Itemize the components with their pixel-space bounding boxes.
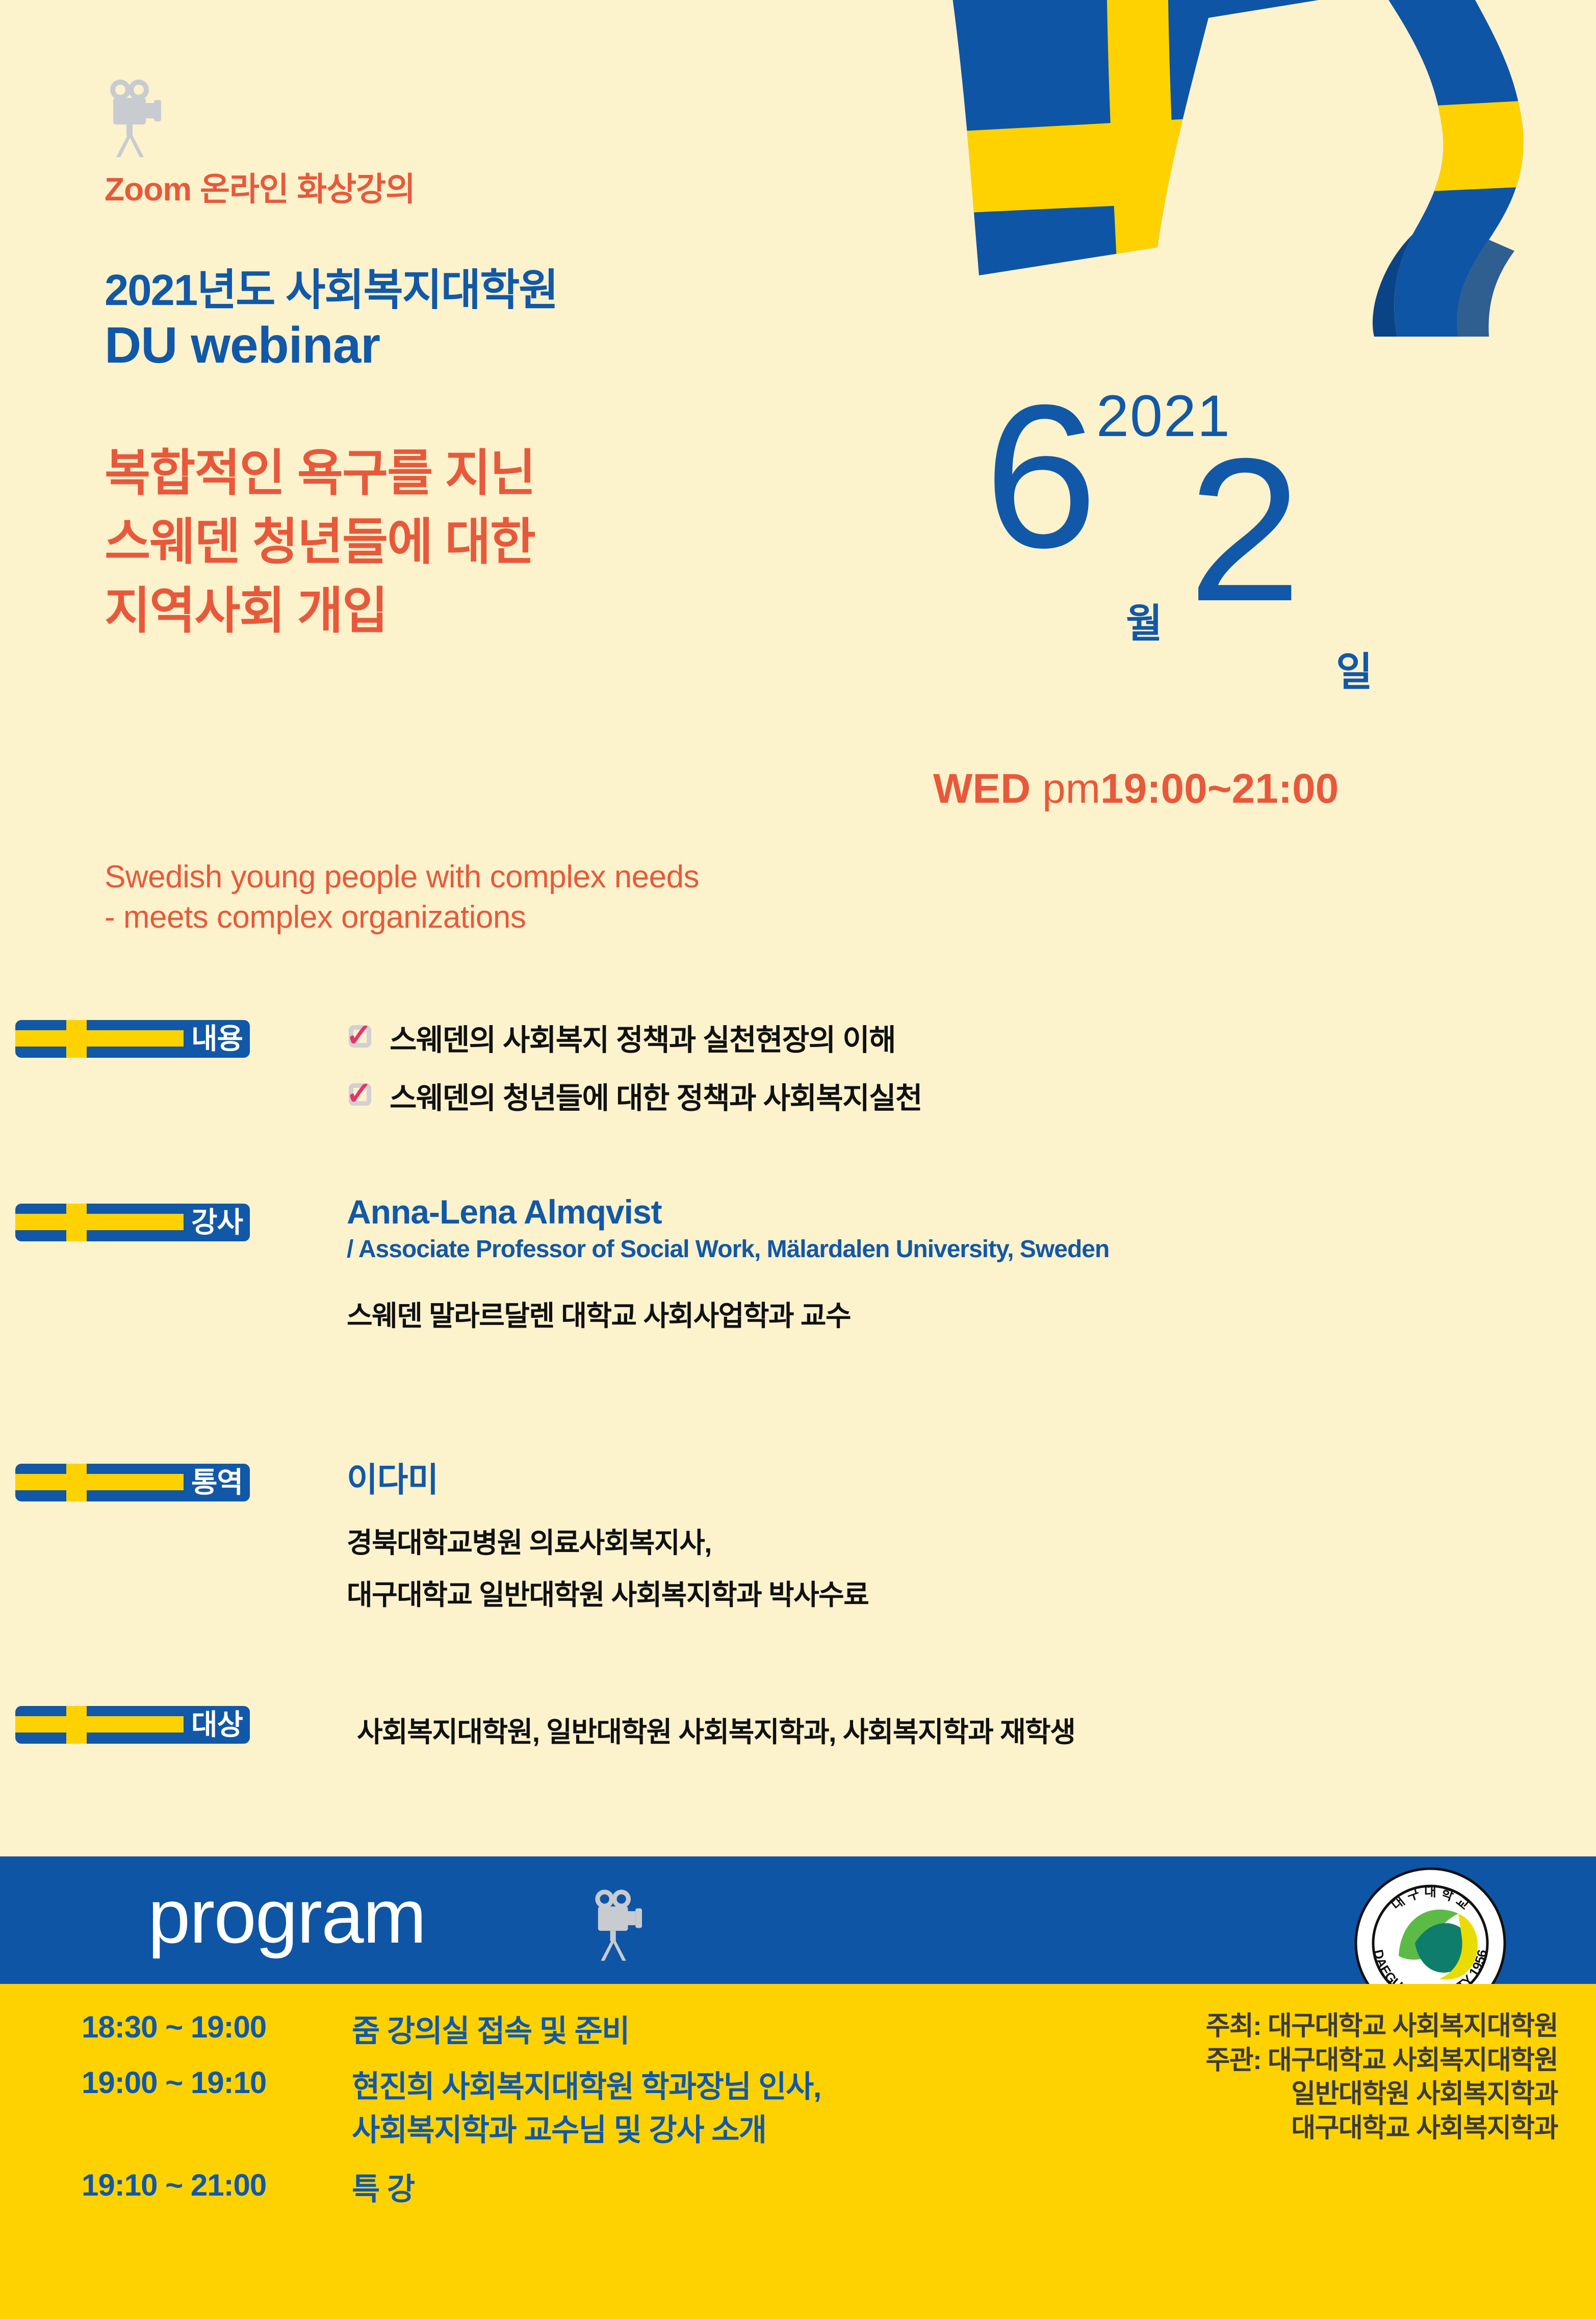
interpreter-detail-1: 경북대학교병원 의료사회복지사, xyxy=(347,1520,868,1561)
flag-bar xyxy=(66,1464,87,1501)
flag-band xyxy=(15,1030,184,1047)
badge-label: 내용 xyxy=(191,1025,243,1053)
poster-root: Zoom 온라인 화상강의 2021년도 사회복지대학원 DU webinar … xyxy=(0,0,1596,2319)
flag-band xyxy=(15,1716,184,1732)
badge-speaker: 강사 xyxy=(15,1204,250,1241)
schedule-time: 19:00 ~ 19:10 xyxy=(82,2065,352,2152)
checkbox-checked-icon: ✓ xyxy=(347,1023,375,1052)
video-camera-icon xyxy=(106,77,167,161)
content-item-text: 스웨덴의 사회복지 정책과 실천현장의 이해 xyxy=(390,1016,895,1059)
zoom-online-label: Zoom 온라인 화상강의 xyxy=(105,163,415,210)
main-title: 복합적인 욕구를 지닌 스웨덴 청년들에 대한 지역사회 개입 xyxy=(105,439,535,646)
badge-label: 통역 xyxy=(191,1468,243,1497)
speaker-affiliation-en: / Associate Professor of Social Work, Mä… xyxy=(347,1235,1109,1263)
schedule-desc-line-1: 현진희 사회복지대학원 학과장님 인사, xyxy=(352,2065,821,2108)
schedule-list: 18:30 ~ 19:00 줌 강의실 접속 및 준비 19:00 ~ 19:1… xyxy=(82,2009,821,2215)
english-subtitle: Swedish young people with complex needs … xyxy=(105,857,699,938)
date-month-number: 6 xyxy=(984,393,1097,560)
event-weekday: WED xyxy=(933,766,1031,812)
flag-band xyxy=(15,1214,184,1230)
speaker-affiliation-kr: 스웨덴 말라르달렌 대학교 사회사업학과 교수 xyxy=(347,1293,1109,1334)
badge-interpreter: 통역 xyxy=(15,1464,250,1501)
flag-bar xyxy=(66,1020,87,1058)
date-day-number: 2 xyxy=(1188,446,1301,614)
main-title-line-3: 지역사회 개입 xyxy=(105,576,535,645)
main-title-line-2: 스웨덴 청년들에 대한 xyxy=(105,507,535,576)
badge-label: 대상 xyxy=(191,1711,243,1739)
content-item-text: 스웨덴의 청년들에 대한 정책과 사회복지실천 xyxy=(390,1074,922,1117)
flag-bar xyxy=(66,1706,87,1744)
speaker-info: Anna-Lena Almqvist / Associate Professor… xyxy=(347,1192,1109,1334)
schedule-desc-line-1: 특 강 xyxy=(352,2168,415,2211)
checkbox-checked-icon: ✓ xyxy=(347,1081,375,1110)
organizer-info: 주최: 대구대학교 사회복지대학원 주관: 대구대학교 사회복지대학원 일반대학… xyxy=(1206,2009,1558,2145)
event-time: WED pm19:00~21:00 xyxy=(933,765,1338,813)
content-list: ✓ 스웨덴의 사회복지 정책과 실천현장의 이해 ✓ 스웨덴의 청년들에 대한 … xyxy=(347,1016,922,1132)
speaker-name: Anna-Lena Almqvist xyxy=(347,1192,1109,1231)
schedule-desc-line-2: 사회복지학과 교수님 및 강사 소개 xyxy=(352,2108,821,2152)
badge-label: 강사 xyxy=(191,1208,243,1237)
list-item: ✓ 스웨덴의 사회복지 정책과 실천현장의 이해 xyxy=(347,1016,922,1059)
audience-text: 사회복지대학원, 일반대학원 사회복지학과, 사회복지학과 재학생 xyxy=(357,1709,1075,1750)
schedule-time: 18:30 ~ 19:00 xyxy=(82,2009,352,2053)
year-department-label: 2021년도 사회복지대학원 xyxy=(105,255,558,318)
date-day-label: 일 xyxy=(1336,640,1373,697)
schedule-row: 19:10 ~ 21:00 특 강 xyxy=(82,2168,821,2211)
main-title-line-1: 복합적인 욕구를 지닌 xyxy=(105,439,535,507)
schedule-time: 19:10 ~ 21:00 xyxy=(82,2168,352,2211)
english-subtitle-line-2: - meets complex organizations xyxy=(105,897,699,937)
organizer-dept-2: 대구대학교 사회복지학과 xyxy=(1206,2111,1558,2146)
program-heading: program xyxy=(148,1878,426,1954)
badge-audience: 대상 xyxy=(15,1706,250,1744)
schedule-desc: 현진희 사회복지대학원 학과장님 인사, 사회복지학과 교수님 및 강사 소개 xyxy=(352,2065,821,2152)
schedule-desc: 특 강 xyxy=(352,2168,415,2211)
date-month-label: 월 xyxy=(1126,592,1163,649)
schedule-row: 19:00 ~ 19:10 현진희 사회복지대학원 학과장님 인사, 사회복지학… xyxy=(82,2065,821,2152)
interpreter-detail-2: 대구대학교 일반대학원 사회복지학과 박사수료 xyxy=(347,1572,868,1613)
swedish-flag-icon xyxy=(882,0,1596,337)
video-camera-icon xyxy=(591,1886,648,1965)
flag-bar xyxy=(66,1204,87,1241)
schedule-desc-line-1: 줌 강의실 접속 및 준비 xyxy=(352,2009,629,2053)
event-time-range: 19:00~21:00 xyxy=(1100,766,1338,812)
flag-band xyxy=(15,1474,184,1490)
schedule-section: 18:30 ~ 19:00 줌 강의실 접속 및 준비 19:00 ~ 19:1… xyxy=(0,1984,1596,2319)
brand-title: DU webinar xyxy=(105,316,380,375)
schedule-row: 18:30 ~ 19:00 줌 강의실 접속 및 준비 xyxy=(82,2009,821,2053)
event-date-block: 2021 6 월 2 일 xyxy=(984,388,1545,755)
list-item: ✓ 스웨덴의 청년들에 대한 정책과 사회복지실천 xyxy=(347,1074,922,1117)
organizer-manager: 주관: 대구대학교 사회복지대학원 xyxy=(1206,2044,1558,2078)
organizer-dept-1: 일반대학원 사회복지학과 xyxy=(1206,2077,1558,2111)
interpreter-info: 이다미 경북대학교병원 의료사회복지사, 대구대학교 일반대학원 사회복지학과 … xyxy=(347,1452,868,1613)
interpreter-name: 이다미 xyxy=(347,1452,868,1501)
badge-content: 내용 xyxy=(15,1020,250,1058)
event-time-prefix: pm xyxy=(1042,766,1100,812)
english-subtitle-line-1: Swedish young people with complex needs xyxy=(105,857,699,897)
organizer-host: 주최: 대구대학교 사회복지대학원 xyxy=(1206,2009,1558,2044)
schedule-desc: 줌 강의실 접속 및 준비 xyxy=(352,2009,629,2053)
